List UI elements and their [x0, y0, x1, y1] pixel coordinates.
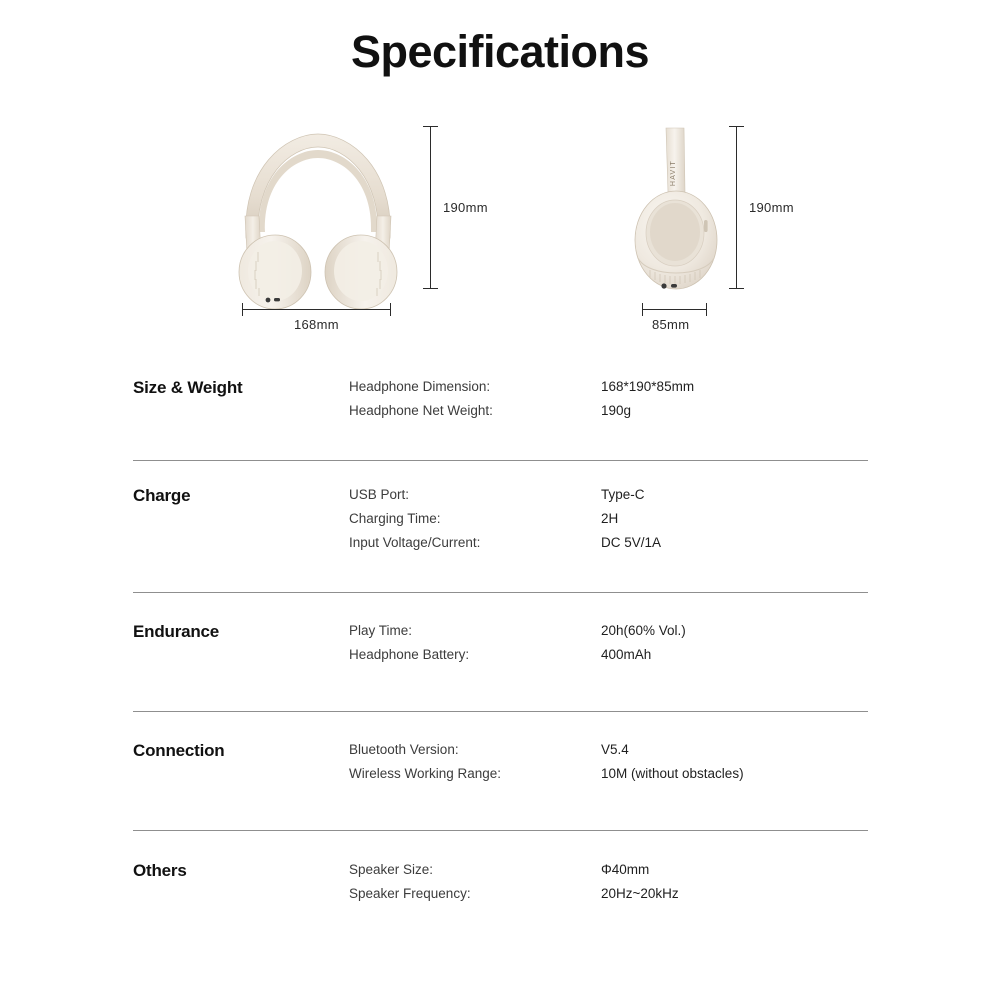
side-height-line	[736, 126, 737, 288]
side-width-line	[642, 309, 707, 310]
spec-label: Speaker Frequency:	[349, 886, 601, 901]
spec-section-connection: Connection Bluetooth Version: V5.4 Wirel…	[0, 712, 1000, 831]
spec-heading-size-weight: Size & Weight	[133, 378, 243, 398]
spec-value: 168*190*85mm	[601, 379, 694, 394]
spec-heading-charge: Charge	[133, 486, 190, 506]
spec-row: Wireless Working Range: 10M (without obs…	[349, 766, 1000, 790]
spec-section-size-weight: Size & Weight Headphone Dimension: 168*1…	[0, 378, 1000, 461]
spec-rows-connection: Bluetooth Version: V5.4 Wireless Working…	[349, 741, 1000, 790]
spec-heading-endurance: Endurance	[133, 622, 219, 642]
spec-value: Φ40mm	[601, 862, 649, 877]
spec-value: DC 5V/1A	[601, 535, 661, 550]
spec-rows-others: Speaker Size: Φ40mm Speaker Frequency: 2…	[349, 861, 1000, 910]
specifications-table: Size & Weight Headphone Dimension: 168*1…	[0, 378, 1000, 941]
brand-mark-text: HAVIT	[670, 160, 677, 186]
spec-section-others: Others Speaker Size: Φ40mm Speaker Frequ…	[0, 831, 1000, 941]
side-width-cap-right	[706, 303, 707, 316]
spec-value: 20Hz~20kHz	[601, 886, 679, 901]
spec-row: Headphone Net Weight: 190g	[349, 403, 1000, 427]
front-width-cap-right	[390, 303, 391, 316]
product-diagram-area: 190mm 168mm	[0, 110, 1000, 350]
spec-value: V5.4	[601, 742, 629, 757]
spec-label: USB Port:	[349, 487, 601, 502]
side-height-label: 190mm	[749, 200, 794, 215]
spec-value: 190g	[601, 403, 631, 418]
spec-row: Play Time: 20h(60% Vol.)	[349, 623, 1000, 647]
spec-row: USB Port: Type-C	[349, 487, 1000, 511]
spec-section-endurance: Endurance Play Time: 20h(60% Vol.) Headp…	[0, 593, 1000, 712]
front-height-line	[430, 126, 431, 288]
spec-row: Speaker Size: Φ40mm	[349, 862, 1000, 886]
front-width-line	[242, 309, 391, 310]
spec-value: Type-C	[601, 487, 645, 502]
side-height-cap-bottom	[729, 288, 744, 289]
front-width-label: 168mm	[294, 317, 339, 332]
spec-label: Speaker Size:	[349, 862, 601, 877]
headphones-side-view-image: HAVIT	[628, 120, 724, 310]
spec-value: 2H	[601, 511, 618, 526]
spec-label: Headphone Dimension:	[349, 379, 601, 394]
front-height-label: 190mm	[443, 200, 488, 215]
spec-label: Wireless Working Range:	[349, 766, 601, 781]
spec-label: Charging Time:	[349, 511, 601, 526]
spec-rows-charge: USB Port: Type-C Charging Time: 2H Input…	[349, 486, 1000, 559]
spec-label: Input Voltage/Current:	[349, 535, 601, 550]
spec-label: Play Time:	[349, 623, 601, 638]
spec-heading-others: Others	[133, 861, 187, 881]
spec-heading-connection: Connection	[133, 741, 225, 761]
spec-rows-endurance: Play Time: 20h(60% Vol.) Headphone Batte…	[349, 622, 1000, 671]
spec-value: 10M (without obstacles)	[601, 766, 744, 781]
spec-row: Headphone Dimension: 168*190*85mm	[349, 379, 1000, 403]
spec-label: Headphone Battery:	[349, 647, 601, 662]
spec-value: 400mAh	[601, 647, 651, 662]
spec-label: Bluetooth Version:	[349, 742, 601, 757]
front-height-cap-bottom	[423, 288, 438, 289]
spec-value: 20h(60% Vol.)	[601, 623, 686, 638]
spec-label: Headphone Net Weight:	[349, 403, 601, 418]
spec-row: Input Voltage/Current: DC 5V/1A	[349, 535, 1000, 559]
headphones-front-view-image	[228, 120, 408, 310]
spec-row: Headphone Battery: 400mAh	[349, 647, 1000, 671]
spec-row: Speaker Frequency: 20Hz~20kHz	[349, 886, 1000, 910]
spec-section-charge: Charge USB Port: Type-C Charging Time: 2…	[0, 461, 1000, 593]
page-title: Specifications	[0, 26, 1000, 78]
spec-row: Bluetooth Version: V5.4	[349, 742, 1000, 766]
spec-rows-size-weight: Headphone Dimension: 168*190*85mm Headph…	[349, 378, 1000, 427]
spec-row: Charging Time: 2H	[349, 511, 1000, 535]
side-width-label: 85mm	[652, 317, 689, 332]
